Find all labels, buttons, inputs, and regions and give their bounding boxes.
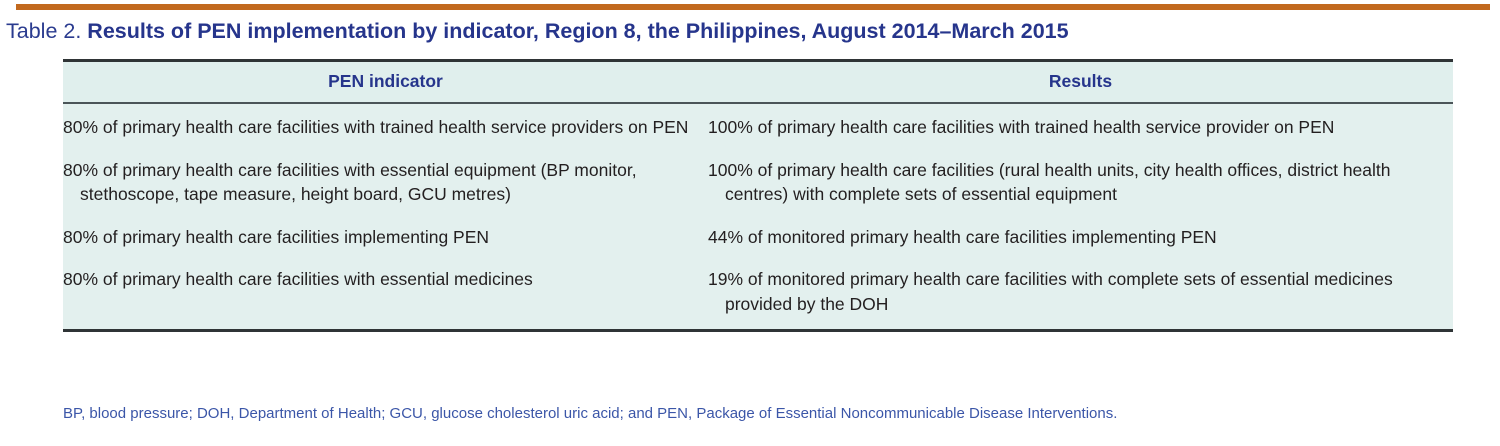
table-title: Table 2. Results of PEN implementation b… xyxy=(6,18,1486,44)
column-header-results: Results xyxy=(708,61,1453,104)
cell-indicator: 80% of primary health care facilities wi… xyxy=(63,258,708,331)
table-header: PEN indicator Results xyxy=(63,61,1453,104)
cell-indicator: 80% of primary health care facilities wi… xyxy=(63,103,708,149)
table-row: 80% of primary health care facilities im… xyxy=(63,216,1453,259)
cell-result: 19% of monitored primary health care fac… xyxy=(708,258,1453,331)
table-row: 80% of primary health care facilities wi… xyxy=(63,103,1453,149)
table-figure: Table 2. Results of PEN implementation b… xyxy=(0,0,1500,446)
column-header-pen-indicator: PEN indicator xyxy=(63,61,708,104)
cell-result: 100% of primary health care facilities (… xyxy=(708,149,1453,216)
table-row: 80% of primary health care facilities wi… xyxy=(63,149,1453,216)
pen-results-table-container: PEN indicator Results 80% of primary hea… xyxy=(63,59,1437,332)
pen-results-table: PEN indicator Results 80% of primary hea… xyxy=(63,59,1453,332)
orange-top-rule xyxy=(16,4,1490,10)
table-row: 80% of primary health care facilities wi… xyxy=(63,258,1453,331)
cell-indicator: 80% of primary health care facilities im… xyxy=(63,216,708,259)
table-body: 80% of primary health care facilities wi… xyxy=(63,103,1453,331)
table-footnote: BP, blood pressure; DOH, Department of H… xyxy=(63,404,1483,423)
table-number-label: Table 2. xyxy=(6,19,81,43)
cell-result: 100% of primary health care facilities w… xyxy=(708,103,1453,149)
cell-result: 44% of monitored primary health care fac… xyxy=(708,216,1453,259)
table-title-text: Results of PEN implementation by indicat… xyxy=(87,19,1068,43)
table-header-row: PEN indicator Results xyxy=(63,61,1453,104)
cell-indicator: 80% of primary health care facilities wi… xyxy=(63,149,708,216)
